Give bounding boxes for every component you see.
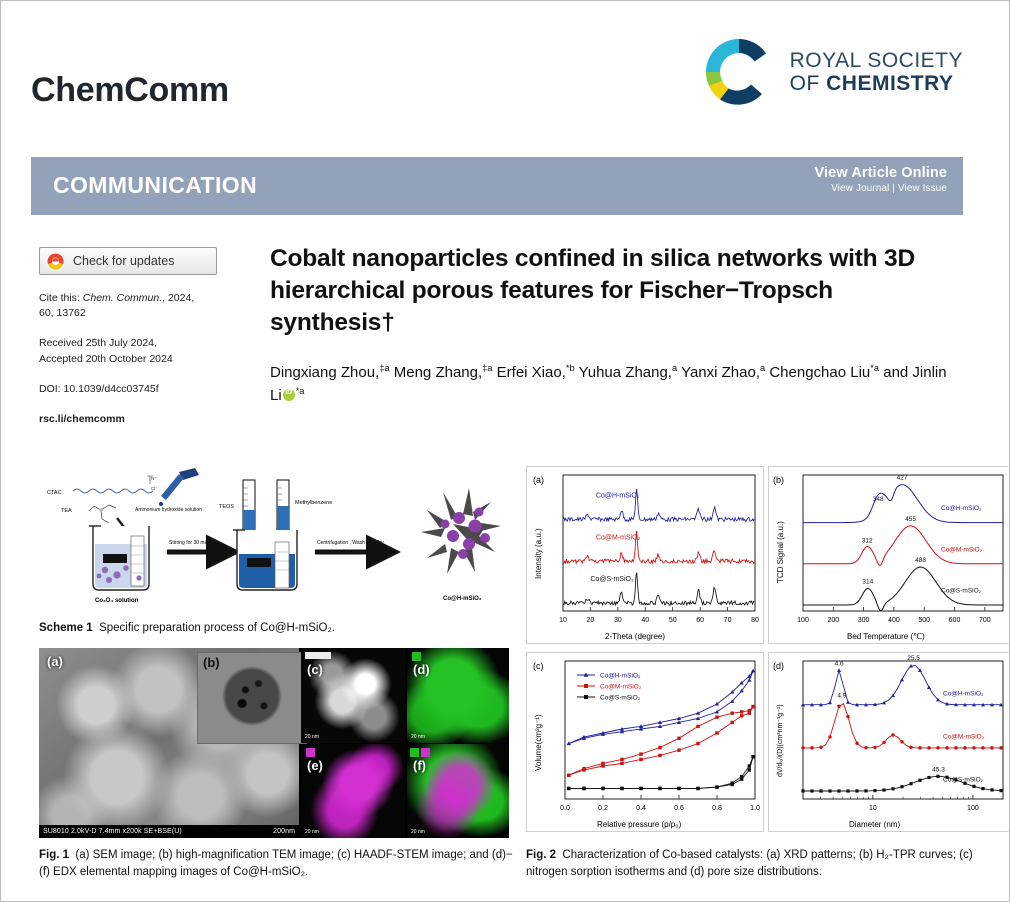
author-5-name: Yanxi Zhao, bbox=[681, 364, 760, 381]
sem-scale-text: 200nm bbox=[273, 828, 295, 835]
orcid-icon[interactable] bbox=[283, 389, 295, 401]
svg-text:Cl⁻: Cl⁻ bbox=[151, 486, 158, 491]
author-3-name: Erfei Xiao, bbox=[497, 364, 566, 381]
svg-text:60: 60 bbox=[696, 617, 704, 624]
psd-ylabel: dV/dₗₒᵍ(D)(cm³nm⁻¹g⁻¹) bbox=[777, 704, 784, 777]
svg-text:Co@S-mSiO₂: Co@S-mSiO₂ bbox=[943, 777, 984, 784]
svg-text:200: 200 bbox=[827, 617, 839, 624]
rsc-line-2: OF CHEMISTRY bbox=[790, 72, 963, 95]
xrd-plot: (a) Intensity (a.u.) 2-Theta (degree) Co… bbox=[526, 466, 764, 644]
fig2-caption-text: Characterization of Co-based catalysts: … bbox=[526, 849, 973, 878]
fig1-caption-text: (a) SEM image; (b) high-magnification TE… bbox=[39, 849, 513, 878]
svg-text:700: 700 bbox=[979, 617, 991, 624]
view-online-block[interactable]: View Article Online View Journal | View … bbox=[815, 165, 947, 194]
fig2-caption-label: Fig. 2 bbox=[526, 849, 556, 861]
co-legend-chip bbox=[306, 748, 315, 757]
author-4-marks: a bbox=[672, 363, 677, 373]
scheme-tea-label: TEA bbox=[61, 508, 72, 514]
scheme-product-cluster: Co@H-mSiO₂ bbox=[421, 488, 501, 602]
svg-text:Co@S-mSiO₂: Co@S-mSiO₂ bbox=[590, 576, 634, 583]
sem-info-bar: SU8010 2.0kV-D 7.4mm x200k SE+BSE(U) 200… bbox=[39, 825, 299, 838]
rsc-li-link[interactable]: rsc.li/chemcomm bbox=[39, 412, 239, 427]
svg-text:427: 427 bbox=[897, 475, 908, 482]
received-date: Received 25th July 2024, bbox=[39, 337, 157, 349]
scheme-beaker-1: Co₃O₄ solution bbox=[89, 526, 149, 604]
journal-masthead: ChemComm bbox=[31, 71, 229, 110]
svg-text:Co@M-mSiO₂: Co@M-mSiO₂ bbox=[596, 534, 641, 541]
tpr-ylabel: TCD Signal (a.u.) bbox=[776, 521, 785, 583]
author-3[interactable]: Erfei Xiao,*b bbox=[497, 364, 575, 381]
svg-text:Co@M-mSiO₂: Co@M-mSiO₂ bbox=[943, 733, 985, 740]
svg-text:N⁺: N⁺ bbox=[151, 476, 157, 481]
fig1-panel-e-label: (e) bbox=[307, 758, 323, 773]
svg-text:Co@H-mSiO₂: Co@H-mSiO₂ bbox=[943, 690, 984, 697]
overlay-map-image: (f) 20 nm bbox=[407, 744, 509, 838]
co-map-image: (e) 20 nm bbox=[301, 744, 405, 838]
communication-band: COMMUNICATION View Article Online View J… bbox=[31, 157, 963, 215]
svg-text:0.6: 0.6 bbox=[674, 805, 684, 812]
fig2-caption: Fig. 2 Characterization of Co-based cata… bbox=[526, 847, 1006, 880]
author-6[interactable]: Chengchao Liu*a bbox=[769, 364, 879, 381]
svg-text:500: 500 bbox=[918, 617, 930, 624]
svg-text:314: 314 bbox=[862, 579, 873, 586]
fig1-caption: Fig. 1 (a) SEM image; (b) high-magnifica… bbox=[39, 847, 517, 880]
fig1-panel-c-label: (c) bbox=[307, 662, 323, 677]
cite-journal: Chem. Commun. bbox=[83, 292, 162, 304]
dates-block: Received 25th July 2024, Accepted 20th O… bbox=[39, 336, 239, 366]
xrd-xlabel: 2-Theta (degree) bbox=[605, 632, 665, 641]
svg-text:10: 10 bbox=[869, 805, 877, 812]
scheme-methylbenzene-label: Methylbenzene bbox=[295, 500, 332, 506]
rsc-li-text[interactable]: rsc.li/chemcomm bbox=[39, 413, 125, 425]
xrd-panel-label: (a) bbox=[533, 475, 544, 485]
scheme1-caption-label: Scheme 1 bbox=[39, 622, 93, 634]
accepted-date: Accepted 20th October 2024 bbox=[39, 353, 173, 365]
scheme1-graphic: CTAC N⁺ Cl⁻ Ammonium hydroxide solution … bbox=[39, 466, 509, 614]
author-1[interactable]: Dingxiang Zhou,‡a bbox=[270, 364, 390, 381]
cite-rest: , 2024, bbox=[162, 292, 194, 304]
fig1-panel-d-label: (d) bbox=[413, 662, 430, 677]
panel-c-scale: 20 nm bbox=[305, 735, 319, 741]
tem-image: (b) bbox=[197, 652, 307, 744]
svg-text:600: 600 bbox=[949, 617, 961, 624]
scheme1-caption: Scheme 1 Specific preparation process of… bbox=[39, 620, 509, 637]
scheme-beaker-2 bbox=[233, 530, 297, 590]
author-4[interactable]: Yuhua Zhang,a bbox=[579, 364, 678, 381]
rsc-logo: ROYAL SOCIETY OF CHEMISTRY bbox=[700, 33, 963, 111]
author-7-marks: *a bbox=[296, 386, 305, 396]
article-page: ChemComm ROYAL SOCIETY OF CHEMISTRY COMM… bbox=[0, 0, 1010, 902]
author-3-marks: *b bbox=[566, 363, 575, 373]
haadf-marker bbox=[305, 652, 331, 659]
author-1-name: Dingxiang Zhou, bbox=[270, 364, 379, 381]
tpr-panel-label: (b) bbox=[773, 475, 784, 485]
fig2-figure: (a) Intensity (a.u.) 2-Theta (degree) Co… bbox=[526, 466, 1010, 836]
author-2-name: Meng Zhang, bbox=[394, 364, 482, 381]
rsc-chemistry: CHEMISTRY bbox=[826, 72, 953, 95]
svg-text:488: 488 bbox=[915, 557, 926, 564]
cite-volume-page: 60, 13762 bbox=[39, 307, 86, 319]
xrd-ylabel: Intensity (a.u.) bbox=[534, 528, 543, 579]
fig1-panel-b-label: (b) bbox=[203, 655, 220, 670]
scheme-product-label: Co@H-mSiO₂ bbox=[443, 596, 482, 602]
rsc-line-1: ROYAL SOCIETY bbox=[790, 49, 963, 72]
author-list: Dingxiang Zhou,‡a Meng Zhang,‡a Erfei Xi… bbox=[270, 361, 960, 408]
svg-text:20: 20 bbox=[587, 617, 595, 624]
svg-text:455: 455 bbox=[905, 516, 916, 523]
svg-text:Co@M-mSiO₂: Co@M-mSiO₂ bbox=[600, 684, 642, 691]
rsc-of: OF bbox=[790, 72, 827, 95]
rsc-c-mark-icon bbox=[700, 33, 778, 111]
svg-text:100: 100 bbox=[967, 805, 979, 812]
author-2-marks: ‡a bbox=[482, 363, 492, 373]
author-5[interactable]: Yanxi Zhao,a bbox=[681, 364, 765, 381]
scheme-arrow2-label: Centrifugation , Wash and Dry bbox=[317, 540, 384, 546]
author-6-name: Chengchao Liu bbox=[769, 364, 870, 381]
si-map-image: (d) 20 nm bbox=[407, 648, 509, 743]
article-type-label: COMMUNICATION bbox=[53, 172, 257, 199]
page-sheet: ChemComm ROYAL SOCIETY OF CHEMISTRY COMM… bbox=[13, 11, 999, 893]
si-legend-chip bbox=[412, 652, 421, 661]
poresize-plot: (d) dV/dₗₒᵍ(D)(cm³nm⁻¹g⁻¹) Diameter (nm)… bbox=[768, 652, 1010, 832]
svg-text:Co@S-mSiO₂: Co@S-mSiO₂ bbox=[600, 695, 641, 702]
svg-text:0.2: 0.2 bbox=[598, 805, 608, 812]
doi-text[interactable]: DOI: 10.1039/d4cc03745f bbox=[39, 383, 159, 395]
scheme-ctac-label: CTAC bbox=[47, 490, 62, 496]
iso-xlabel: Relative pressure (p/p₀) bbox=[597, 820, 682, 829]
h2tpr-plot: (b) TCD Signal (a.u.) Bed Temperature (℃… bbox=[768, 466, 1010, 644]
psd-xlabel: Diameter (nm) bbox=[849, 820, 900, 829]
view-journal-issue-links[interactable]: View Journal | View Issue bbox=[815, 183, 947, 194]
svg-text:0.4: 0.4 bbox=[636, 805, 646, 812]
psd-panel-label: (d) bbox=[773, 661, 784, 671]
rsc-wordmark: ROYAL SOCIETY OF CHEMISTRY bbox=[790, 49, 963, 95]
svg-text:Co@H-mSiO₂: Co@H-mSiO₂ bbox=[596, 493, 640, 500]
scheme-ammonium-label: Ammonium hydroxide solution bbox=[135, 507, 202, 513]
svg-text:10: 10 bbox=[559, 617, 567, 624]
svg-text:30: 30 bbox=[614, 617, 622, 624]
scheme-teos-label: TEOS bbox=[219, 504, 234, 510]
svg-text:40: 40 bbox=[641, 617, 649, 624]
journal-title: ChemComm bbox=[31, 71, 229, 110]
panel-f-scale: 20 nm bbox=[411, 830, 425, 836]
iso-ylabel: Volume(cm³g⁻¹) bbox=[534, 714, 543, 771]
view-article-online-link[interactable]: View Article Online bbox=[815, 165, 947, 181]
scheme-cylinder-methylbenzene: Methylbenzene bbox=[277, 480, 332, 538]
svg-text:25.5: 25.5 bbox=[907, 655, 920, 662]
svg-text:4.9: 4.9 bbox=[837, 693, 846, 700]
iso-panel-label: (c) bbox=[533, 661, 544, 671]
author-1-marks: ‡a bbox=[379, 363, 389, 373]
haadf-stem-image: (c) 20 nm bbox=[301, 648, 405, 743]
author-5-marks: a bbox=[760, 363, 765, 373]
svg-text:312: 312 bbox=[862, 537, 873, 544]
fig1-caption-label: Fig. 1 bbox=[39, 849, 69, 861]
doi-block[interactable]: DOI: 10.1039/d4cc03745f bbox=[39, 382, 239, 397]
article-metadata-column: Check for updates Cite this: Chem. Commu… bbox=[39, 247, 239, 427]
overlay-si-chip bbox=[410, 748, 419, 757]
svg-text:Co@H-mSiO₂: Co@H-mSiO₂ bbox=[941, 505, 982, 512]
page-title: Cobalt nanoparticles confined in silica … bbox=[270, 243, 960, 339]
svg-text:Co@S-mSiO₂: Co@S-mSiO₂ bbox=[941, 588, 982, 595]
fig1-panel-f-label: (f) bbox=[413, 758, 426, 773]
svg-text:0.0: 0.0 bbox=[560, 805, 570, 812]
svg-text:Co@M-mSiO₂: Co@M-mSiO₂ bbox=[941, 546, 983, 553]
svg-text:348: 348 bbox=[873, 496, 884, 503]
svg-text:80: 80 bbox=[751, 617, 759, 624]
panel-e-scale: 20 nm bbox=[305, 830, 319, 836]
crossmark-icon bbox=[46, 252, 65, 271]
citation-block: Cite this: Chem. Commun., 2024, 60, 1376… bbox=[39, 291, 239, 321]
overlay-co-chip bbox=[421, 748, 430, 757]
svg-text:0.8: 0.8 bbox=[712, 805, 722, 812]
tem-particle bbox=[219, 665, 285, 727]
scheme-arrow1-label: Stirring for 30 minutes bbox=[169, 540, 218, 546]
panel-d-scale: 20 nm bbox=[411, 735, 425, 741]
scheme1-caption-text: Specific preparation process of Co@H-mSi… bbox=[99, 622, 335, 634]
crossmark-badge[interactable]: Check for updates bbox=[39, 247, 217, 275]
crossmark-label: Check for updates bbox=[73, 254, 174, 268]
svg-text:4.6: 4.6 bbox=[835, 660, 844, 667]
scheme-beaker1-label: Co₃O₄ solution bbox=[95, 598, 139, 604]
scheme1-figure: CTAC N⁺ Cl⁻ Ammonium hydroxide solution … bbox=[39, 466, 509, 637]
fig1-panel-a-label: (a) bbox=[47, 654, 63, 669]
author-2[interactable]: Meng Zhang,‡a bbox=[394, 364, 493, 381]
svg-text:300: 300 bbox=[858, 617, 870, 624]
svg-text:1.0: 1.0 bbox=[750, 805, 760, 812]
cite-prefix: Cite this: bbox=[39, 292, 83, 304]
scheme-cylinder-teos: TEOS bbox=[219, 480, 255, 538]
author-6-marks: *a bbox=[870, 363, 879, 373]
svg-text:Co@H-mSiO₂: Co@H-mSiO₂ bbox=[600, 673, 641, 680]
svg-text:70: 70 bbox=[724, 617, 732, 624]
svg-text:45.3: 45.3 bbox=[932, 766, 945, 773]
svg-text:400: 400 bbox=[888, 617, 900, 624]
tpr-xlabel: Bed Temperature (℃) bbox=[847, 632, 925, 641]
fig2-plot-grid: (a) Intensity (a.u.) 2-Theta (degree) Co… bbox=[526, 466, 1010, 836]
svg-text:50: 50 bbox=[669, 617, 677, 624]
svg-text:100: 100 bbox=[797, 617, 809, 624]
author-4-name: Yuhua Zhang, bbox=[579, 364, 672, 381]
sem-info-text: SU8010 2.0kV-D 7.4mm x200k SE+BSE(U) bbox=[43, 828, 182, 835]
isotherm-plot: (c) Volume(cm³g⁻¹) Relative pressure (p/… bbox=[526, 652, 764, 832]
fig1-image-montage: (a) SU8010 2.0kV-D 7.4mm x200k SE+BSE(U)… bbox=[39, 648, 509, 838]
